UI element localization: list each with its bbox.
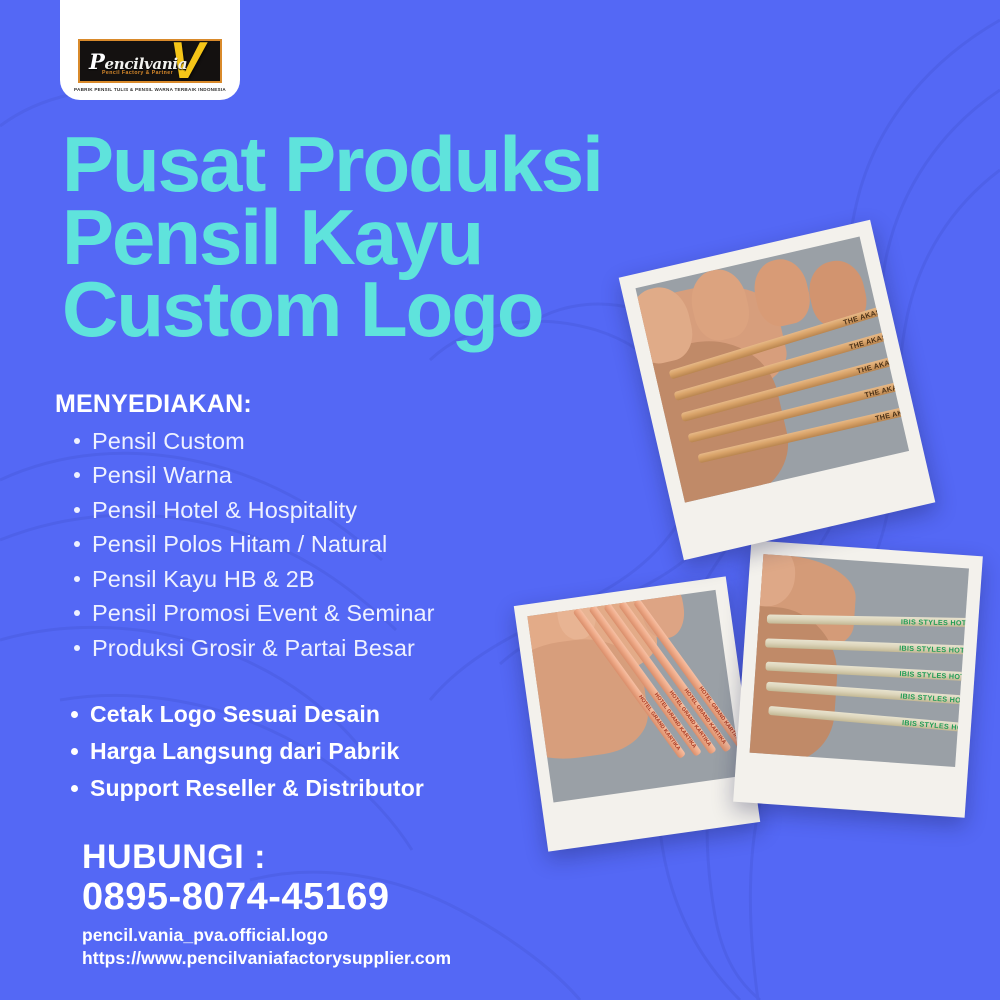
list-item: Support Reseller & Distributor (90, 770, 424, 807)
headline-line-1: Pusat Produksi (62, 128, 602, 201)
headline-line-3: Custom Logo (62, 273, 602, 346)
list-item: Pensil Kayu HB & 2B (92, 562, 435, 596)
list-item: Produksi Grosir & Partai Besar (92, 631, 435, 665)
product-photo-akasha: THE AKASHA THE AKASHA THE AKASHA THE AKA… (619, 220, 936, 561)
product-photo-ibis: IBIS STYLES HOTELS IBIS STYLES HOTELS IB… (733, 540, 983, 818)
provides-list: Pensil Custom Pensil Warna Pensil Hotel … (66, 424, 435, 665)
logo-subtitle: Pencil Factory & Partner (102, 70, 173, 76)
list-item: Harga Langsung dari Pabrik (90, 733, 424, 770)
pencil-brand-text: IBIS STYLES HOTELS (902, 719, 969, 733)
contact-label: HUBUNGI : (82, 840, 451, 876)
list-item: Cetak Logo Sesuai Desain (90, 696, 424, 733)
list-item: Pensil Hotel & Hospitality (92, 493, 435, 527)
page-title: Pusat Produksi Pensil Kayu Custom Logo (62, 128, 602, 346)
pencil-brand-text: THE AKASHA (864, 379, 909, 398)
pencil-brand-text: IBIS STYLES HOTELS (899, 644, 969, 654)
product-photo-grand: HOTEL GRAND KARTIKA HOTEL GRAND KARTIKA … (514, 576, 760, 851)
logo-plate: Pencilvania Pencil Factory & Partner V (78, 39, 222, 83)
list-item: Pensil Warna (92, 458, 435, 492)
logo-tagline: PABRIK PENSIL TULIS & PENSIL WARNA TERBA… (74, 87, 226, 92)
pencil-brand-text: THE AKASHA (848, 330, 898, 351)
logo-wordmark: Pencilvania (89, 51, 187, 72)
list-item: Pensil Polos Hitam / Natural (92, 527, 435, 561)
pencil-brand-text: IBIS STYLES HOTELS (900, 670, 969, 681)
contact-phone[interactable]: 0895-8074-45169 (82, 876, 451, 919)
pencil-5: HOTEL GRAND KARTIKA (633, 599, 741, 751)
headline-line-2: Pensil Kayu (62, 201, 602, 274)
pencil-brand-text: IBIS STYLES HOTELS (901, 617, 969, 626)
pencil-brand-text: THE AKASHA (856, 354, 906, 374)
photo-scene: IBIS STYLES HOTELS IBIS STYLES HOTELS IB… (750, 554, 969, 767)
photo-scene: THE AKASHA THE AKASHA THE AKASHA THE AKA… (635, 236, 909, 502)
contact-instagram-handle[interactable]: pencil.vania_pva.official.logo (82, 924, 451, 947)
promotional-poster: Pencilvania Pencil Factory & Partner V P… (0, 0, 1000, 1000)
contact-block: HUBUNGI : 0895-8074-45169 pencil.vania_p… (82, 840, 451, 970)
list-item: Pensil Custom (92, 424, 435, 458)
brand-logo-card: Pencilvania Pencil Factory & Partner V P… (60, 0, 240, 100)
benefits-list: Cetak Logo Sesuai Desain Harga Langsung … (60, 696, 424, 807)
photo-scene: HOTEL GRAND KARTIKA HOTEL GRAND KARTIKA … (527, 590, 741, 803)
pencil-brand-text: IBIS STYLES HOTELS (900, 692, 969, 705)
pencil-brand-text: THE AKASHA (874, 403, 909, 421)
provides-heading: MENYEDIAKAN: (55, 390, 252, 419)
list-item: Pensil Promosi Event & Seminar (92, 596, 435, 630)
contact-website-url[interactable]: https://www.pencilvaniafactorysupplier.c… (82, 947, 451, 970)
